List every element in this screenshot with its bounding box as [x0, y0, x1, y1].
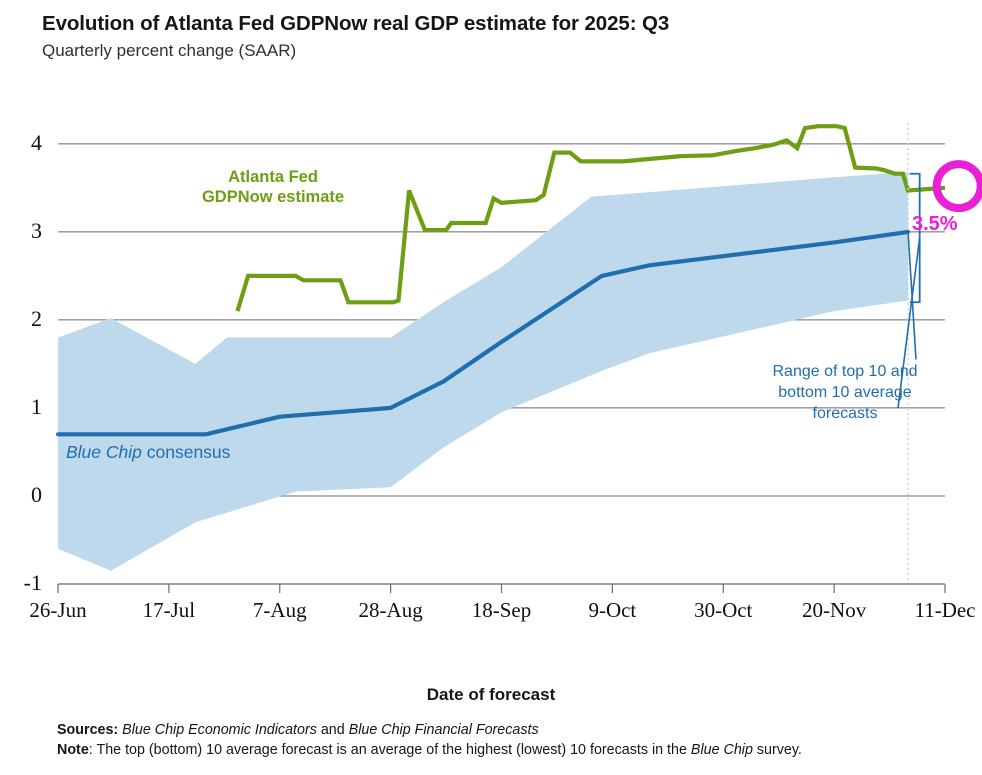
annotation-gdpnow-label: Atlanta Fed GDPNow estimate	[178, 167, 368, 207]
footnote-sources-mid: and	[317, 722, 349, 738]
annotation-range-line1: Range of top 10 and	[745, 362, 945, 383]
footnote-note: Note: The top (bottom) 10 average foreca…	[57, 740, 957, 760]
y-axis-tick-label-5: 4	[8, 130, 42, 156]
footnotes: Sources: Blue Chip Economic Indicators a…	[57, 720, 957, 761]
footnote-note-label: Note	[57, 742, 89, 758]
x-axis-tick-label-8: 11-Dec	[885, 598, 982, 623]
annotation-bluechip-rest: consensus	[142, 442, 231, 462]
footnote-note-text-a: : The top (bottom) 10 average forecast i…	[89, 742, 691, 758]
annotation-range-label: Range of top 10 and bottom 10 average fo…	[745, 362, 945, 424]
x-axis-tick-label-5: 9-Oct	[552, 598, 672, 623]
annotation-bluechip-consensus: Blue Chip consensus	[66, 442, 230, 463]
y-axis-tick-label-1: 0	[8, 482, 42, 508]
y-axis-tick-label-3: 2	[8, 306, 42, 332]
x-axis-tick-label-1: 17-Jul	[109, 598, 229, 623]
annotation-gdpnow-line2: GDPNow estimate	[178, 187, 368, 207]
chart-page: Evolution of Atlanta Fed GDPNow real GDP…	[0, 0, 982, 775]
y-axis-tick-label-0: -1	[8, 570, 42, 596]
annotation-range-line2: bottom 10 average	[745, 383, 945, 404]
footnote-sources: Sources: Blue Chip Economic Indicators a…	[57, 720, 957, 740]
footnote-sources-label: Sources:	[57, 722, 118, 738]
x-axis-tick-label-4: 18-Sep	[442, 598, 562, 623]
y-axis-tick-label-4: 3	[8, 218, 42, 244]
y-axis-tick-label-2: 1	[8, 394, 42, 420]
x-axis-title: Date of forecast	[0, 685, 982, 705]
x-axis-tick-label-0: 26-Jun	[0, 598, 118, 623]
annotation-range-line3: forecasts	[745, 404, 945, 425]
footnote-source-2: Blue Chip Financial Forecasts	[349, 722, 539, 738]
annotation-bluechip-italic: Blue Chip	[66, 442, 142, 462]
x-axis-tick-label-3: 28-Aug	[331, 598, 451, 623]
x-axis-tick-label-7: 20-Nov	[774, 598, 894, 623]
footnote-source-1: Blue Chip Economic Indicators	[122, 722, 317, 738]
footnote-note-text-b: survey.	[753, 742, 802, 758]
annotation-final-value: 3.5%	[912, 213, 958, 236]
annotation-gdpnow-line1: Atlanta Fed	[178, 167, 368, 187]
x-axis-tick-label-2: 7-Aug	[220, 598, 340, 623]
footnote-note-italic: Blue Chip	[691, 742, 753, 758]
x-axis-tick-label-6: 30-Oct	[663, 598, 783, 623]
